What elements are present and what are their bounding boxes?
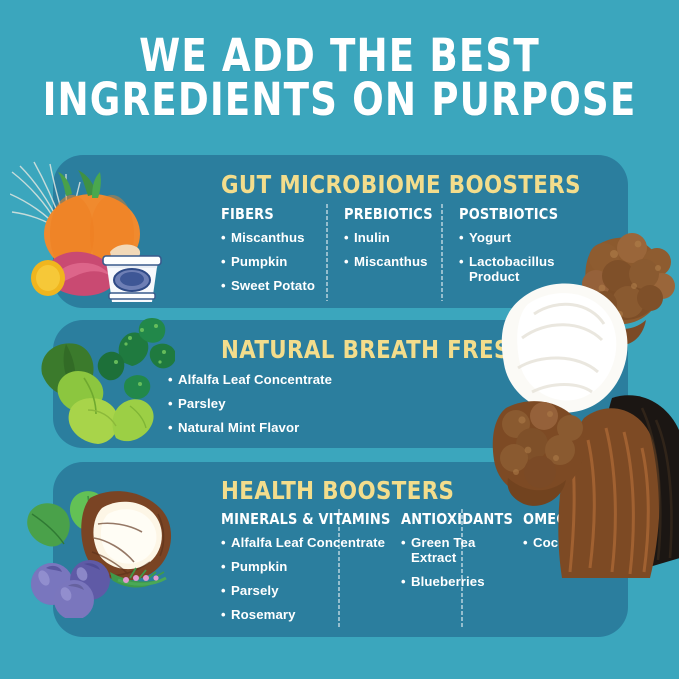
title-line-2: INGREDIENTS ON PURPOSE [27, 78, 652, 122]
column-antioxidants: ANTIOXIDANTS Green Tea Extract Blueberri… [401, 510, 511, 631]
ingredient-list: Yogurt Lactobacillus Product [459, 230, 579, 284]
column-subheading: ANTIOXIDANTS [401, 510, 503, 528]
card-heading: NATURAL BREATH FRESHENERS [221, 335, 609, 364]
list-item: Pumpkin [221, 559, 389, 574]
list-item: Rosemary [221, 607, 389, 622]
list-item: Natural Mint Flavor [168, 420, 332, 435]
ingredient-list: Alfalfa Leaf Concentrate Pumpkin Parsely… [221, 535, 389, 622]
column-postbiotics: POSTBIOTICS Yogurt Lactobacillus Product [459, 205, 579, 302]
card-columns: MINERALS & VITAMINS Alfalfa Leaf Concent… [221, 510, 673, 631]
card-heading: HEALTH BOOSTERS [221, 476, 454, 505]
list-item: Sweet Potato [221, 278, 333, 293]
ingredient-list: Coconut Oil [523, 535, 673, 550]
column-fibers: FIBERS Miscanthus Pumpkin Sweet Potato [221, 205, 333, 302]
ingredient-list: Alfalfa Leaf Concentrate Parsley Natural… [168, 372, 332, 444]
column-divider [441, 203, 443, 301]
card-health-boosters: HEALTH BOOSTERS MINERALS & VITAMINS Alfa… [53, 462, 628, 637]
list-item: Alfalfa Leaf Concentrate [168, 372, 332, 387]
list-item: Miscanthus [344, 254, 448, 269]
page-title: WE ADD THE BEST INGREDIENTS ON PURPOSE [27, 34, 652, 122]
ingredient-list: Inulin Miscanthus [344, 230, 448, 269]
card-columns: FIBERS Miscanthus Pumpkin Sweet Potato P… [221, 205, 579, 302]
list-item: Coconut Oil [523, 535, 673, 550]
column-subheading: MINERALS & VITAMINS [221, 510, 377, 528]
column-subheading: FIBERS [221, 205, 325, 223]
column-divider [461, 508, 463, 628]
column-subheading: OMEGA FATTY ACIDS [523, 510, 663, 528]
list-item: Inulin [344, 230, 448, 245]
column-subheading: PREBIOTICS [344, 205, 441, 223]
list-item: Parsely [221, 583, 389, 598]
list-item: Miscanthus [221, 230, 333, 245]
ingredient-list: Green Tea Extract Blueberries [401, 535, 511, 589]
list-item: Green Tea Extract [401, 535, 479, 565]
card-natural-breath-fresheners: NATURAL BREATH FRESHENERS Alfalfa Leaf C… [53, 320, 628, 448]
list-item: Pumpkin [221, 254, 333, 269]
column-omega-fatty-acids: OMEGA FATTY ACIDS Coconut Oil [523, 510, 673, 631]
infographic-root: WE ADD THE BEST INGREDIENTS ON PURPOSE G… [0, 0, 679, 679]
column-divider [326, 203, 328, 301]
list-item: Alfalfa Leaf Concentrate [221, 535, 389, 550]
card-gut-microbiome-boosters: GUT MICROBIOME BOOSTERS FIBERS Miscanthu… [53, 155, 628, 308]
column-prebiotics: PREBIOTICS Inulin Miscanthus [344, 205, 448, 302]
ingredient-list: Miscanthus Pumpkin Sweet Potato [221, 230, 333, 293]
list-item: Yogurt [459, 230, 579, 245]
column-subheading: POSTBIOTICS [459, 205, 571, 223]
list-item: Lactobacillus Product [459, 254, 579, 284]
list-item: Parsley [168, 396, 332, 411]
column-divider [338, 508, 340, 628]
list-item: Blueberries [401, 574, 511, 589]
card-heading: GUT MICROBIOME BOOSTERS [221, 170, 581, 199]
column-minerals-vitamins: MINERALS & VITAMINS Alfalfa Leaf Concent… [221, 510, 389, 631]
